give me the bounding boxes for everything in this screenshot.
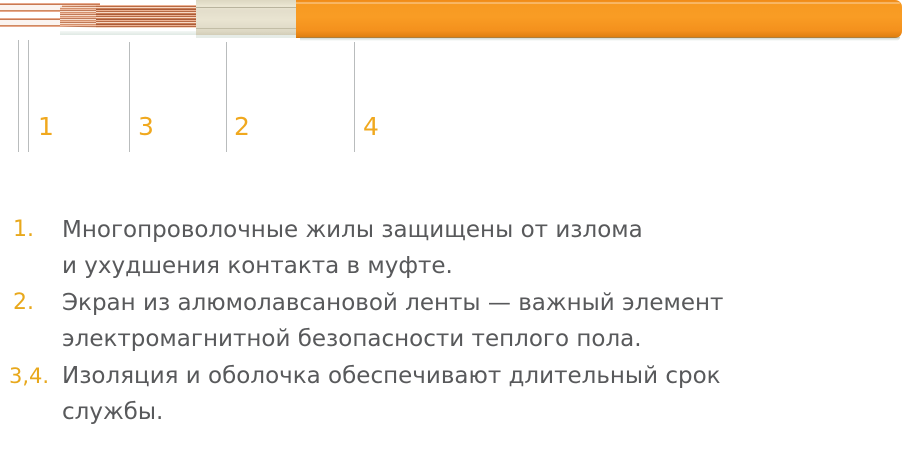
list-item: 2. Экран из алюмолавсановой ленты — важн… <box>0 285 919 357</box>
list-item-marker: 3,4. <box>0 358 62 394</box>
leader-line-3 <box>129 42 130 152</box>
callout-number-4: 4 <box>363 114 379 139</box>
copper-conductor <box>96 5 202 28</box>
insulation-sleeve <box>196 0 308 36</box>
leader-line-1b <box>28 40 29 152</box>
list-item-marker: 1. <box>0 212 62 248</box>
list-item-marker: 2. <box>0 285 62 321</box>
insulation-shadow <box>196 35 308 38</box>
list-item: 3,4. Изоляция и оболочка обеспечивают дл… <box>0 358 919 430</box>
leader-line-4 <box>354 42 355 152</box>
outer-jacket-highlight <box>296 2 900 4</box>
callout-number-1: 1 <box>38 114 54 139</box>
copper-conductor-taper <box>60 5 100 28</box>
leader-line-1a <box>18 40 19 152</box>
list-item-text: Экран из алюмолавсановой ленты — важный … <box>62 285 723 357</box>
strand-gap-lower <box>0 20 62 25</box>
heating-cable-cutaway-diagram <box>0 0 919 46</box>
list-item-text: Изоляция и оболочка обеспечивают длитель… <box>62 358 721 430</box>
strand-gap-upper <box>0 5 62 10</box>
insulation-edge-top <box>196 7 308 8</box>
callout-number-3: 3 <box>138 114 154 139</box>
outer-jacket-shadow <box>300 37 900 41</box>
outer-jacket <box>296 0 902 38</box>
insulation-edge-bottom <box>196 28 308 29</box>
list-item: 1. Многопроволочные жилы защищены от изл… <box>0 212 919 284</box>
description-list: 1. Многопроволочные жилы защищены от изл… <box>0 212 919 431</box>
list-item-text: Многопроволочные жилы защищены от излома… <box>62 212 643 284</box>
leader-line-2 <box>226 42 227 152</box>
callout-number-2: 2 <box>234 114 250 139</box>
